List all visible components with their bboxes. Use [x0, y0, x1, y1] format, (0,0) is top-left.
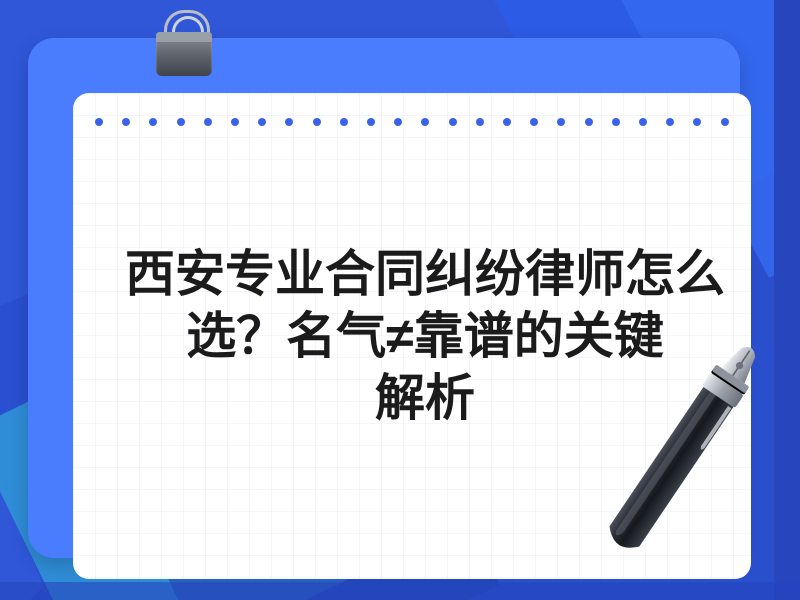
perforation-dot [204, 118, 212, 126]
poster-canvas: 西安专业合同纠纷律师怎么选？名气≠靠谱的关键 解析 [0, 0, 800, 600]
perforation-dot [149, 118, 157, 126]
perforation-dot [693, 118, 701, 126]
perforation-dot [503, 118, 511, 126]
binder-clip-icon [148, 8, 220, 82]
perforation-dot [476, 118, 484, 126]
perforation-dot [639, 118, 647, 126]
page-title: 西安专业合同纠纷律师怎么选？名气≠靠谱的关键 解析 [125, 243, 725, 429]
perforation-dot [449, 118, 457, 126]
perforation-dot [258, 118, 266, 126]
perforation-dot [340, 118, 348, 126]
perforation-dot [421, 118, 429, 126]
perforation-dot [666, 118, 674, 126]
perforation-dot [530, 118, 538, 126]
perforation-dot [285, 118, 293, 126]
perforation-dot [313, 118, 321, 126]
perforation-dot [612, 118, 620, 126]
binder-clip-body [156, 32, 212, 76]
perforation-dot [231, 118, 239, 126]
perforation-dot [367, 118, 375, 126]
perforation-dot [177, 118, 185, 126]
card-sheet: 西安专业合同纠纷律师怎么选？名气≠靠谱的关键 解析 [73, 93, 751, 579]
perforation-dot [95, 118, 103, 126]
perforation-dot [394, 118, 402, 126]
perforation-dot [557, 118, 565, 126]
perforation-dot [122, 118, 130, 126]
perforation-dot [585, 118, 593, 126]
card-frame: 西安专业合同纠纷律师怎么选？名气≠靠谱的关键 解析 [28, 38, 740, 558]
perforation-dot [721, 118, 729, 126]
background-right-edge [774, 0, 800, 600]
perforation-dots [95, 117, 729, 127]
background-bottom-edge [0, 582, 800, 600]
